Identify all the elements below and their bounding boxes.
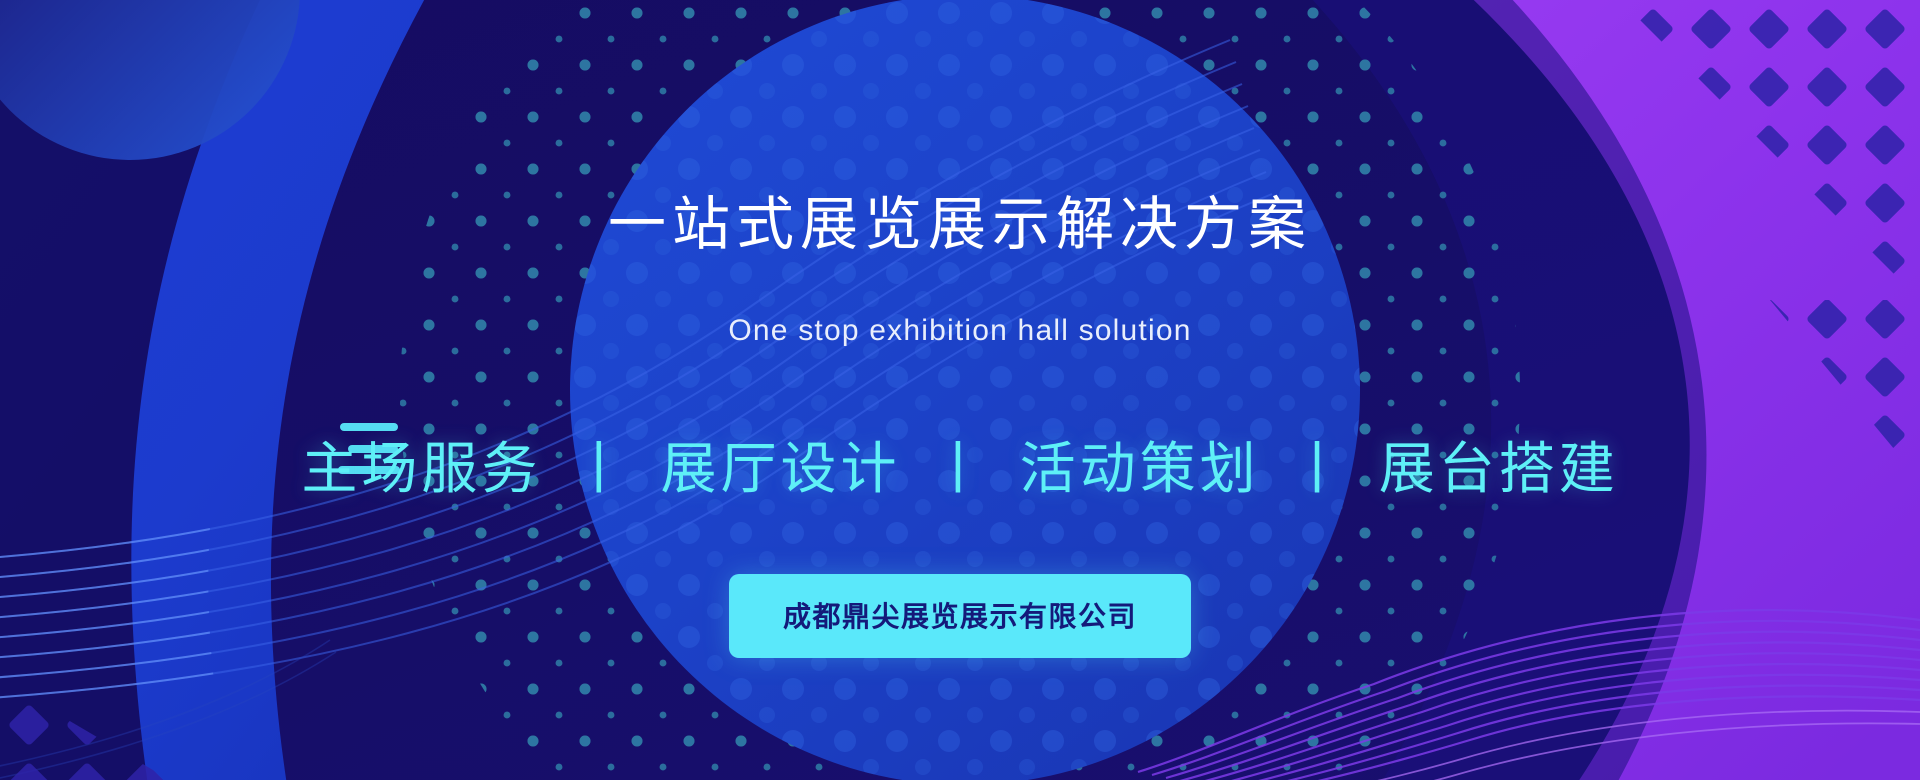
promo-banner: 一站式展览展示解决方案 One stop exhibition hall sol… [0,0,1920,780]
service-separator-2: 丨 [1279,437,1359,500]
service-separator-1: 丨 [920,437,1000,500]
banner-title-en: One stop exhibition hall solution [728,316,1191,346]
service-item-1: 展厅设计 [660,437,900,500]
banner-title-cn: 一站式展览展示解决方案 [608,196,1312,254]
service-item-2: 活动策划 [1020,437,1260,500]
background-art [0,0,1920,780]
service-item-3: 展台搭建 [1379,437,1619,500]
company-cta-button[interactable]: 成都鼎尖展览展示有限公司 [729,574,1191,658]
service-list: 主场服务 丨 展厅设计 丨 活动策划 丨 展台搭建 [301,441,1618,497]
service-separator-0: 丨 [561,437,641,500]
service-item-0: 主场服务 [301,437,541,500]
